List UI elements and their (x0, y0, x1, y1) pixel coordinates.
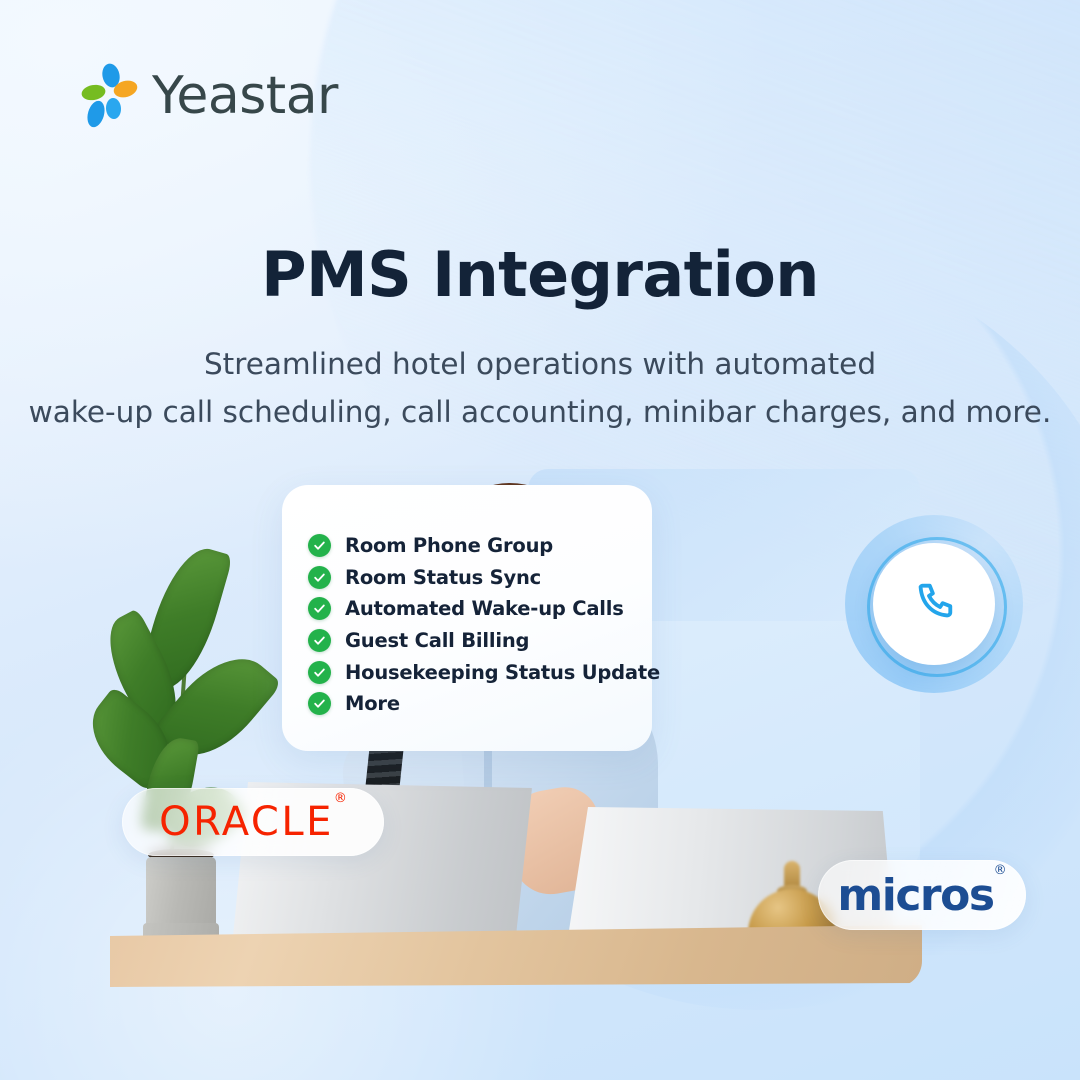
page-subtitle: Streamlined hotel operations with automa… (0, 340, 1080, 436)
check-circle-icon (308, 692, 331, 715)
partner-badge-oracle: ORACLE® (122, 788, 384, 856)
brand-name: Yeastar (152, 70, 338, 122)
check-circle-icon (308, 597, 331, 620)
brand-logo: Yeastar (80, 63, 338, 129)
oracle-logo: ORACLE® (159, 799, 347, 845)
list-item[interactable]: More (308, 688, 728, 720)
list-item[interactable]: Room Phone Group (308, 530, 728, 562)
phone-icon-circle (873, 543, 995, 665)
check-circle-icon (308, 629, 331, 652)
check-circle-icon (308, 566, 331, 589)
micros-logo: micros® (837, 870, 1006, 921)
list-item-label: Housekeeping Status Update (345, 661, 660, 684)
list-item-label: More (345, 692, 400, 715)
list-item-label: Room Phone Group (345, 534, 553, 557)
check-circle-icon (308, 661, 331, 684)
phone-badge (845, 515, 1023, 693)
micros-trademark-icon: ® (994, 863, 1007, 878)
potted-plant (104, 551, 252, 971)
list-item-label: Automated Wake-up Calls (345, 597, 624, 620)
subtitle-line-1: Streamlined hotel operations with automa… (0, 340, 1080, 388)
partner-badge-micros: micros® (818, 860, 1026, 930)
subtitle-line-2: wake-up call scheduling, call accounting… (0, 388, 1080, 436)
phone-handset-icon (911, 579, 957, 630)
list-item[interactable]: Housekeeping Status Update (308, 656, 728, 688)
list-item[interactable]: Automated Wake-up Calls (308, 593, 728, 625)
list-item-label: Guest Call Billing (345, 629, 529, 652)
page-title: PMS Integration (0, 238, 1080, 311)
micros-wordmark: micros (837, 870, 993, 921)
features-list: Room Phone Group Room Status Sync Automa… (308, 530, 728, 720)
oracle-trademark-icon: ® (334, 791, 347, 806)
check-circle-icon (308, 534, 331, 557)
poster-canvas: Yeastar PMS Integration Streamlined hote… (0, 0, 1080, 1080)
yeastar-flower-icon (80, 63, 138, 129)
oracle-wordmark: ORACLE (159, 799, 334, 845)
list-item[interactable]: Room Status Sync (308, 562, 728, 594)
list-item-label: Room Status Sync (345, 566, 541, 589)
list-item[interactable]: Guest Call Billing (308, 625, 728, 657)
